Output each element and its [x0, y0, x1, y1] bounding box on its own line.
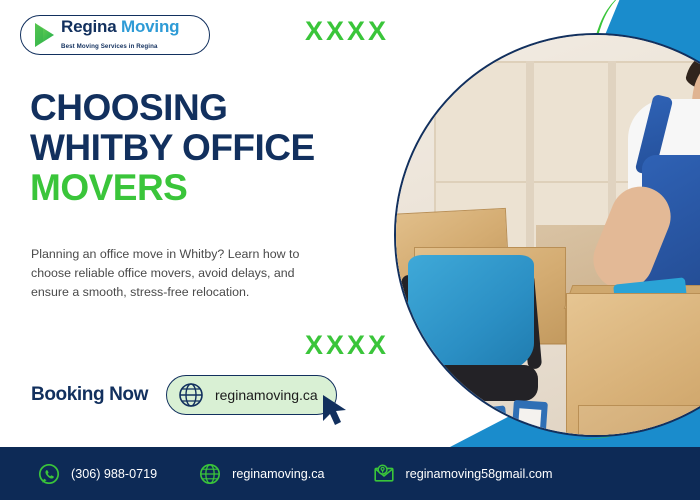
whatsapp-icon — [38, 463, 60, 485]
green-chevron-arrow-icon — [31, 21, 57, 49]
footer-item-phone[interactable]: (306) 988-0719 — [38, 463, 157, 485]
envelope-location-icon — [373, 463, 395, 485]
footer-email-text: reginamoving58gmail.com — [406, 467, 553, 481]
headline-line-1: CHOOSING — [30, 88, 315, 128]
footer-phone-text: (306) 988-0719 — [71, 467, 157, 481]
globe-icon — [199, 463, 221, 485]
booking-cta-row: Booking Now reginamoving.ca — [31, 375, 337, 415]
logo-word-moving: Moving — [121, 17, 179, 36]
logo-title: Regina Moving — [61, 17, 179, 36]
description-text: Planning an office move in Whitby? Learn… — [31, 245, 321, 302]
headline-line-2: WHITBY OFFICE — [30, 128, 315, 168]
globe-icon — [178, 382, 204, 408]
headline-line-3: MOVERS — [30, 168, 315, 208]
footer-item-email[interactable]: reginamoving58gmail.com — [373, 463, 553, 485]
booking-now-label: Booking Now — [31, 384, 148, 406]
hero-photo — [394, 33, 700, 437]
brand-logo[interactable]: Regina Moving Best Moving Services in Re… — [20, 15, 210, 55]
website-url-pill[interactable]: reginamoving.ca — [166, 375, 337, 415]
footer-item-website[interactable]: reginamoving.ca — [199, 463, 324, 485]
decor-x-marks-top: XXXX — [305, 16, 389, 47]
mouse-cursor-icon — [320, 394, 350, 428]
contact-footer-bar: (306) 988-0719 reginamoving.ca — [0, 447, 700, 500]
logo-tagline: Best Moving Services in Regina — [61, 43, 158, 50]
website-url-text: reginamoving.ca — [215, 387, 318, 403]
promo-banner: Regina Moving Best Moving Services in Re… — [0, 0, 700, 500]
decor-x-marks-middle: XXXX — [305, 330, 389, 361]
footer-website-text: reginamoving.ca — [232, 467, 324, 481]
logo-word-regina: Regina — [61, 17, 116, 36]
page-title: CHOOSING WHITBY OFFICE MOVERS — [30, 88, 315, 208]
